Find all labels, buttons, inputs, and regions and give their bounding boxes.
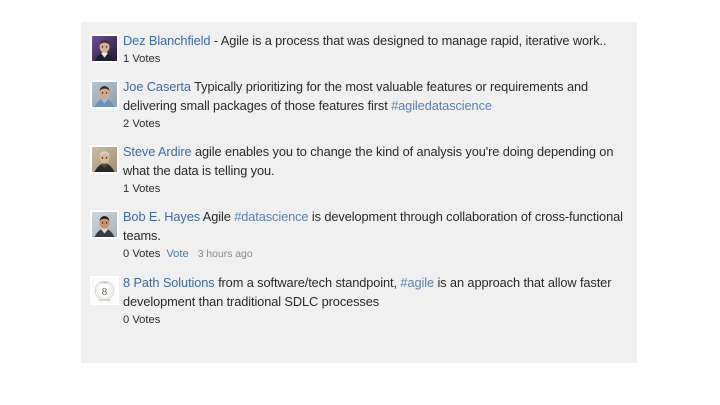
comment-row: Dez Blanchfield - Agile is a process tha… [81, 28, 637, 70]
comment-author-link[interactable]: Joe Caserta [123, 79, 191, 94]
comment-text-segment: Typically prioritizing for the most valu… [123, 79, 588, 113]
comment-body: 8 Path Solutions from a software/tech st… [122, 273, 623, 328]
comment-author-link[interactable]: Dez Blanchfield [123, 33, 210, 48]
comment-author-link[interactable]: Steve Ardire [123, 144, 192, 159]
comment-text: Bob E. Hayes Agile #datascience is devel… [123, 207, 623, 245]
comment-meta: 1 Votes [123, 51, 623, 67]
comment-text: Steve Ardire agile enables you to change… [123, 142, 623, 180]
comment-meta: 1 Votes [123, 181, 623, 197]
comment-author-link[interactable]: 8 Path Solutions [123, 275, 215, 290]
comment-row: Bob E. Hayes Agile #datascience is devel… [81, 204, 637, 266]
vote-count: 0 Votes [123, 246, 160, 262]
svg-text:SOLUTIONS: SOLUTIONS [98, 300, 111, 302]
comment-text-segment: - Agile is a process that was designed t… [210, 33, 606, 48]
comment-row: Steve Ardire agile enables you to change… [81, 139, 637, 200]
avatar-joe-caserta[interactable] [90, 80, 119, 109]
comment-text-segment: agile enables you to change the kind of … [123, 144, 613, 178]
vote-count: 1 Votes [123, 181, 160, 197]
comment-text-segment: Agile [200, 209, 234, 224]
avatar-container: 8 8 PATH SOLUTIONS [86, 273, 122, 305]
avatar-dez-blanchfield[interactable] [90, 34, 119, 63]
vote-button[interactable]: Vote [166, 246, 188, 262]
avatar-container [86, 77, 122, 109]
comment-meta: 0 Votes [123, 312, 623, 328]
comment-body: Joe Caserta Typically prioritizing for t… [122, 77, 623, 132]
avatar-bob-e-hayes[interactable] [90, 210, 119, 239]
svg-text:8: 8 [101, 286, 106, 298]
avatar-container [86, 207, 122, 239]
comment-text: 8 Path Solutions from a software/tech st… [123, 273, 623, 311]
avatar-8-path-solutions-logo[interactable]: 8 8 PATH SOLUTIONS [90, 276, 119, 305]
hashtag-link[interactable]: #datascience [234, 209, 308, 224]
hashtag-link[interactable]: #agiledatascience [391, 98, 492, 113]
comment-row: 8 8 PATH SOLUTIONS 8 Path Solutions from… [81, 270, 637, 331]
hashtag-link[interactable]: #agile [400, 275, 434, 290]
vote-count: 2 Votes [123, 116, 160, 132]
comment-row: Joe Caserta Typically prioritizing for t… [81, 74, 637, 135]
svg-text:8 PATH: 8 PATH [101, 281, 108, 284]
comment-text: Joe Caserta Typically prioritizing for t… [123, 77, 623, 115]
screenshot-root: Dez Blanchfield - Agile is a process tha… [0, 0, 720, 405]
avatar-container [86, 31, 122, 63]
comment-feed-panel: Dez Blanchfield - Agile is a process tha… [81, 22, 637, 363]
comment-meta: 2 Votes [123, 116, 623, 132]
comment-body: Steve Ardire agile enables you to change… [122, 142, 623, 197]
vote-count: 0 Votes [123, 312, 160, 328]
vote-count: 1 Votes [123, 51, 160, 67]
comment-author-link[interactable]: Bob E. Hayes [123, 209, 200, 224]
comment-timestamp: 3 hours ago [195, 247, 253, 263]
comment-text: Dez Blanchfield - Agile is a process tha… [123, 31, 623, 50]
avatar-container [86, 142, 122, 174]
comment-text-segment: from a software/tech standpoint, [215, 275, 401, 290]
comment-body: Bob E. Hayes Agile #datascience is devel… [122, 207, 623, 263]
comment-body: Dez Blanchfield - Agile is a process tha… [122, 31, 623, 67]
comment-meta: 0 VotesVote3 hours ago [123, 246, 623, 263]
avatar-steve-ardire[interactable] [90, 145, 119, 174]
